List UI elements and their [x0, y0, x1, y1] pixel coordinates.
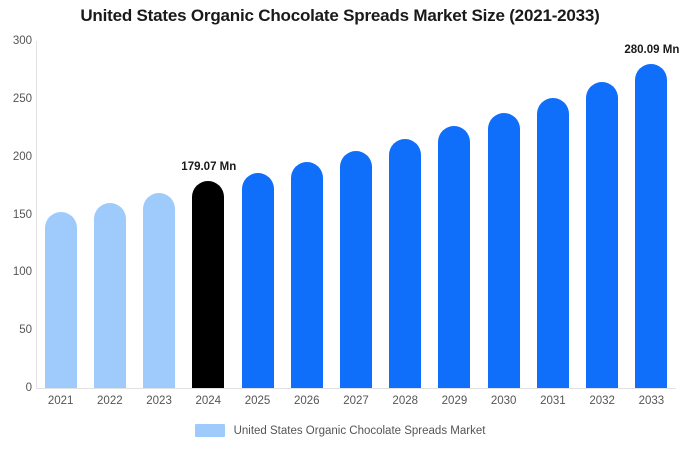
- bar-value-label-2024: 179.07 Mn: [181, 161, 236, 173]
- bar-2025[interactable]: [242, 173, 274, 388]
- y-axis-tick-100: 100: [2, 266, 32, 278]
- x-axis-tick-2031: 2031: [528, 395, 577, 407]
- bar-slot: [192, 41, 224, 388]
- y-axis-tick-50: 50: [2, 324, 32, 336]
- bar-slot: [586, 41, 618, 388]
- x-axis-tick-2025: 2025: [233, 395, 282, 407]
- x-axis-tick-2022: 2022: [85, 395, 134, 407]
- x-axis-tick-2024: 2024: [184, 395, 233, 407]
- x-axis-tick-2021: 2021: [36, 395, 85, 407]
- bar-slot: [45, 41, 77, 388]
- bar-slot: [537, 41, 569, 388]
- y-axis-tick-150: 150: [2, 209, 32, 221]
- x-axis-tick-2026: 2026: [282, 395, 331, 407]
- bar-2030[interactable]: [488, 113, 520, 388]
- legend-swatch-icon: [195, 424, 225, 437]
- bar-2021[interactable]: [45, 212, 77, 388]
- legend-item-label: United States Organic Chocolate Spreads …: [234, 425, 486, 437]
- bar-slot: [242, 41, 274, 388]
- bar-slot: [635, 41, 667, 388]
- bar-2033[interactable]: [635, 64, 667, 388]
- chart-title: United States Organic Chocolate Spreads …: [0, 6, 680, 26]
- y-axis-tick-250: 250: [2, 93, 32, 105]
- y-axis-tick-0: 0: [2, 382, 32, 394]
- x-axis-tick-2033: 2033: [627, 395, 676, 407]
- bar-2027[interactable]: [340, 151, 372, 388]
- bar-2032[interactable]: [586, 82, 618, 388]
- bar-slot: [389, 41, 421, 388]
- x-axis-tick-labels: 2021202220232024202520262027202820292030…: [36, 392, 676, 414]
- y-axis-tick-300: 300: [2, 35, 32, 47]
- bar-slot: [438, 41, 470, 388]
- bar-slot: [488, 41, 520, 388]
- bar-series: 179.07 Mn280.09 Mn: [36, 41, 676, 388]
- x-axis-tick-2027: 2027: [331, 395, 380, 407]
- bar-slot: [291, 41, 323, 388]
- bar-2031[interactable]: [537, 98, 569, 388]
- chart-container: United States Organic Chocolate Spreads …: [0, 0, 680, 450]
- bar-2024[interactable]: [192, 181, 224, 388]
- y-axis-tick-labels: 050100150200250300: [0, 41, 32, 388]
- bar-slot: [340, 41, 372, 388]
- x-axis-tick-2028: 2028: [381, 395, 430, 407]
- chart-legend: United States Organic Chocolate Spreads …: [0, 424, 680, 437]
- x-axis-tick-2029: 2029: [430, 395, 479, 407]
- x-axis-tick-2030: 2030: [479, 395, 528, 407]
- bar-value-label-2033: 280.09 Mn: [624, 44, 679, 56]
- x-axis-line: [36, 388, 676, 389]
- bar-2022[interactable]: [94, 203, 126, 388]
- bar-2029[interactable]: [438, 126, 470, 388]
- bar-slot: [94, 41, 126, 388]
- x-axis-tick-2023: 2023: [134, 395, 183, 407]
- bar-slot: [143, 41, 175, 388]
- bar-2023[interactable]: [143, 193, 175, 388]
- bar-2026[interactable]: [291, 162, 323, 388]
- bar-2028[interactable]: [389, 139, 421, 388]
- y-axis-tick-200: 200: [2, 151, 32, 163]
- x-axis-tick-2032: 2032: [578, 395, 627, 407]
